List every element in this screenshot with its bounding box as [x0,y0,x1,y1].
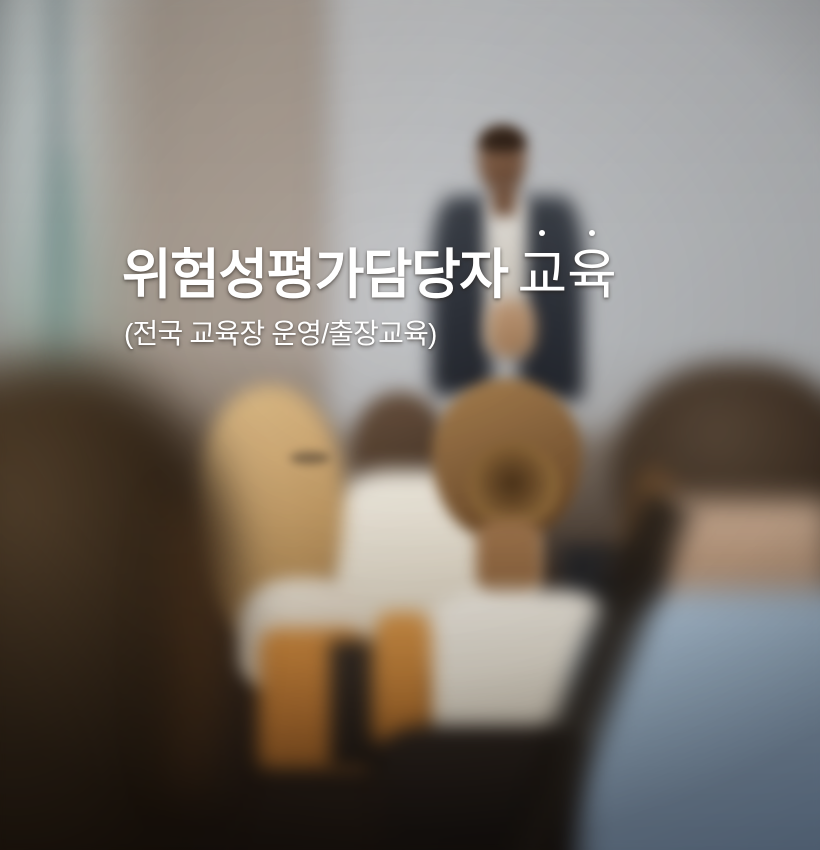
headline-emphasis-char-2: 육 [567,246,617,304]
headline-emphasis-char-1: 교 [517,246,567,304]
lecture-hall-photo [0,0,820,850]
headline-main-text: 위험성평가담당자 [122,245,507,305]
training-banner: 위험성평가담당자교육 (전국 교육장 운영/출장교육) [0,0,820,850]
banner-subheadline: (전국 교육장 운영/출장교육) [124,316,722,351]
banner-text-block: 위험성평가담당자교육 (전국 교육장 운영/출장교육) [122,246,722,351]
banner-headline: 위험성평가담당자교육 [122,246,722,304]
headline-emphasis-text: 교육 [517,245,616,305]
photo-vignette [0,0,820,850]
